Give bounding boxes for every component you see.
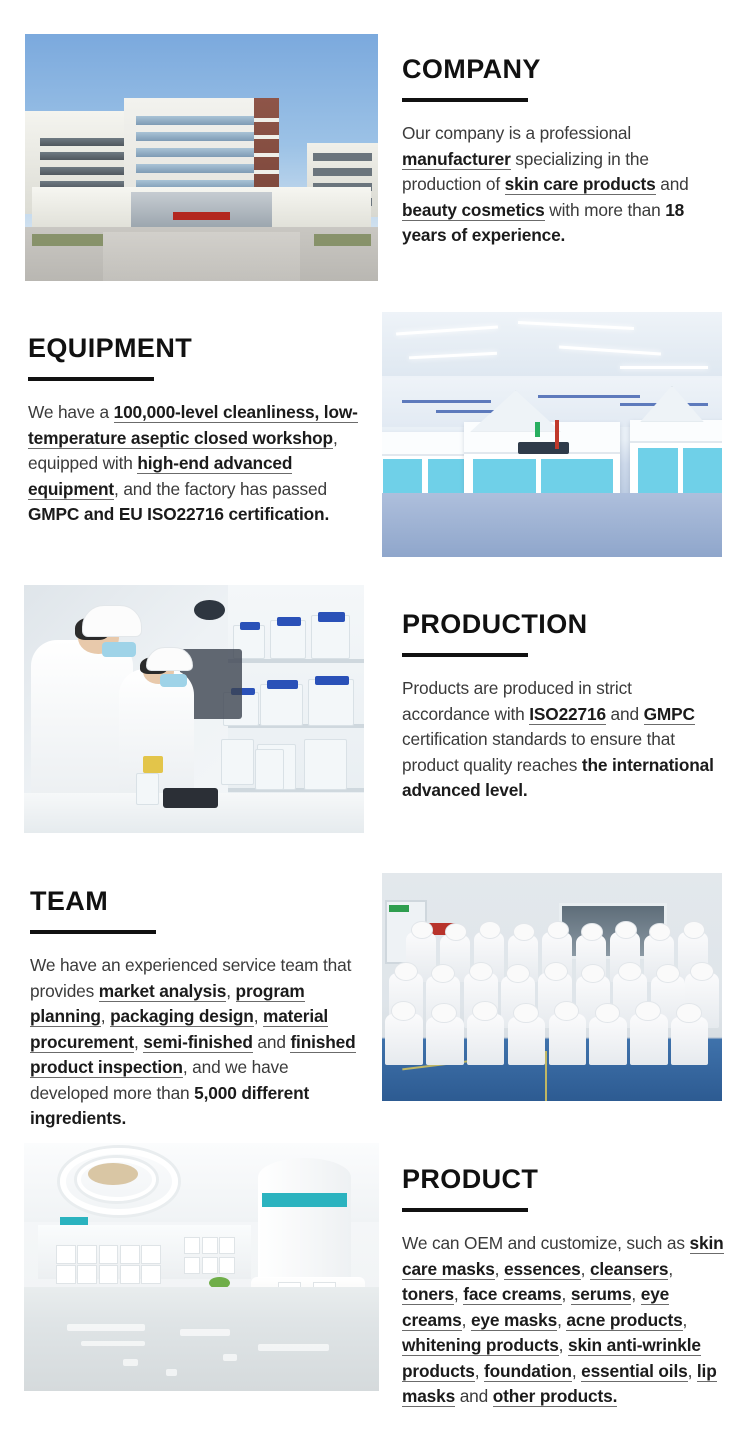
section-team: TEAM We have an experienced service team… xyxy=(0,855,750,1140)
production-technicians-photo xyxy=(24,585,364,833)
equipment-copy: EQUIPMENT We have a 100,000-level cleanl… xyxy=(28,334,358,528)
section-equipment: EQUIPMENT We have a 100,000-level cleanl… xyxy=(0,300,750,570)
section-company: COMPANY Our company is a professional ma… xyxy=(0,0,750,300)
production-paragraph: Products are produced in strict accordan… xyxy=(402,676,722,804)
page-title-equipment: EQUIPMENT xyxy=(28,334,358,362)
product-copy: PRODUCT We can OEM and customize, such a… xyxy=(402,1165,724,1410)
equipment-laboratory-photo xyxy=(382,312,722,557)
page-title-team: TEAM xyxy=(30,887,360,915)
heading-rule xyxy=(402,1208,528,1212)
product-showroom-photo xyxy=(24,1143,379,1391)
team-copy: TEAM We have an experienced service team… xyxy=(30,887,360,1132)
page-title-company: COMPANY xyxy=(402,55,718,83)
company-building-photo xyxy=(25,34,378,281)
page-title-production: PRODUCTION xyxy=(402,610,722,638)
company-copy: COMPANY Our company is a professional ma… xyxy=(402,55,718,249)
heading-rule xyxy=(402,653,528,657)
section-production: PRODUCTION Products are produced in stri… xyxy=(0,570,750,855)
heading-rule xyxy=(30,930,156,934)
product-paragraph: We can OEM and customize, such as skin c… xyxy=(402,1231,724,1410)
production-copy: PRODUCTION Products are produced in stri… xyxy=(402,610,722,804)
team-group-photo xyxy=(382,873,722,1101)
section-product: PRODUCT We can OEM and customize, such a… xyxy=(0,1140,750,1429)
page-title-product: PRODUCT xyxy=(402,1165,724,1193)
heading-rule xyxy=(28,377,154,381)
team-paragraph: We have an experienced service team that… xyxy=(30,953,360,1132)
company-paragraph: Our company is a professional manufactur… xyxy=(402,121,718,249)
company-profile-page: COMPANY Our company is a professional ma… xyxy=(0,0,750,1429)
equipment-paragraph: We have a 100,000-level cleanliness, low… xyxy=(28,400,358,528)
heading-rule xyxy=(402,98,528,102)
